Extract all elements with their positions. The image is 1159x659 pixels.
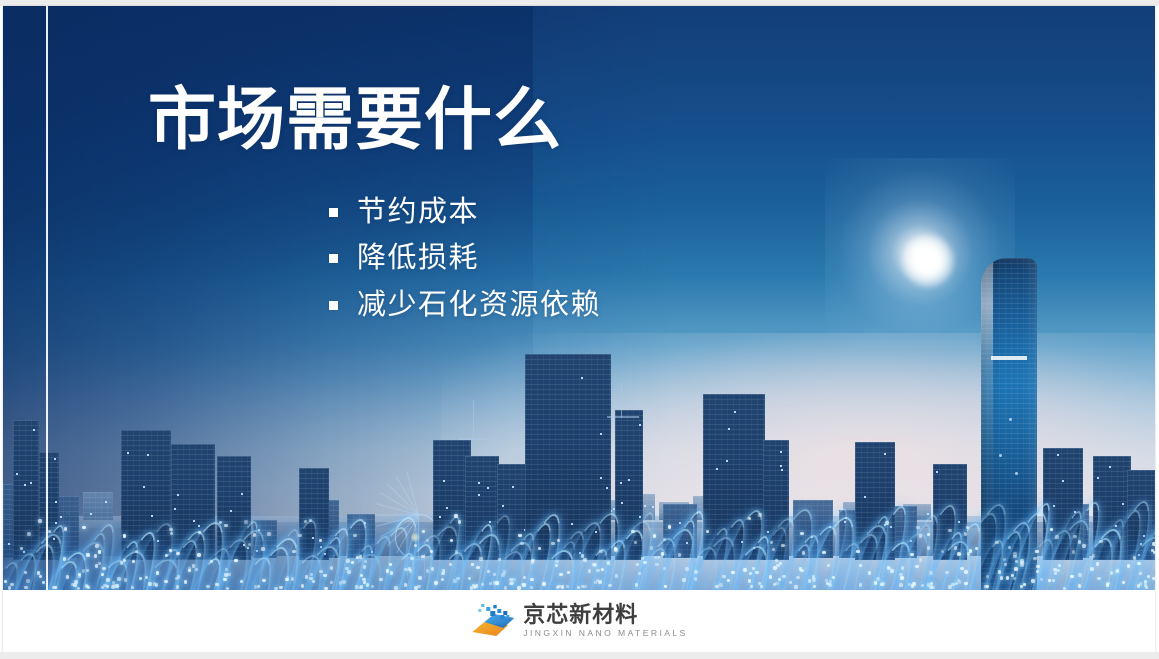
building	[253, 520, 277, 558]
page-bottom-margin	[0, 652, 1159, 659]
bullet-square-icon	[329, 301, 338, 310]
slide-page: 市场需要什么 节约成本降低损耗减少石化资源依赖	[0, 0, 1159, 659]
lit-window	[1115, 525, 1117, 527]
ferris-wheel-hub	[411, 533, 420, 542]
building	[1043, 448, 1083, 560]
slide-footer: 京芯新材料 JINGXIN NANO MATERIALS	[3, 590, 1155, 652]
lit-window	[324, 553, 326, 555]
lit-window	[320, 546, 322, 548]
bullet-item: 降低损耗	[329, 242, 601, 274]
building-windows	[525, 354, 611, 560]
lit-window	[716, 468, 718, 470]
lit-window	[16, 473, 18, 475]
ferris-wheel-support	[407, 554, 425, 578]
building-windows	[465, 456, 499, 560]
lit-window	[1053, 505, 1055, 507]
building-windows	[793, 500, 833, 558]
lit-window	[1074, 511, 1076, 513]
bullet-list: 节约成本降低损耗减少石化资源依赖	[329, 196, 601, 335]
construction-crane	[458, 438, 492, 440]
lit-window	[644, 505, 646, 507]
building	[13, 420, 39, 560]
lit-window	[8, 543, 10, 545]
lit-window	[33, 429, 35, 431]
ferris-wheel-spoke	[374, 515, 418, 516]
lit-window	[829, 526, 831, 528]
building-windows	[763, 440, 789, 560]
lit-window	[734, 411, 736, 413]
logo-mark-icon	[470, 602, 514, 640]
lit-window	[753, 547, 755, 549]
building-windows	[1127, 470, 1155, 560]
lit-window	[958, 521, 960, 523]
building	[171, 444, 215, 560]
lit-window	[679, 522, 681, 524]
lit-window	[845, 517, 847, 519]
building	[855, 442, 895, 560]
lit-window	[1062, 480, 1064, 482]
building	[465, 456, 499, 560]
bullet-square-icon	[329, 254, 338, 263]
building	[763, 440, 789, 560]
lit-window	[780, 465, 782, 467]
building	[121, 430, 171, 560]
bullet-label: 节约成本	[357, 196, 479, 228]
lit-window	[193, 520, 195, 522]
lit-window	[54, 458, 56, 460]
building	[347, 514, 375, 558]
building	[793, 500, 833, 558]
lit-window	[502, 505, 504, 507]
lit-window	[639, 424, 641, 426]
building	[83, 492, 113, 520]
lit-window	[1057, 454, 1059, 456]
lit-window	[60, 516, 62, 518]
lit-window	[241, 493, 243, 495]
lit-window	[198, 525, 200, 527]
tower-light-band	[991, 356, 1027, 360]
lit-window	[741, 541, 743, 543]
lit-window	[1097, 477, 1099, 479]
bullet-label: 降低损耗	[357, 242, 479, 274]
lit-window	[443, 480, 445, 482]
building	[933, 464, 967, 560]
logo-text: 京芯新材料 JINGXIN NANO MATERIALS	[523, 604, 687, 638]
lit-window	[55, 501, 57, 503]
building	[39, 452, 59, 560]
lit-window	[478, 494, 480, 496]
lit-window	[652, 506, 654, 508]
building	[299, 468, 329, 560]
lit-window	[600, 477, 602, 479]
lit-window	[30, 482, 32, 484]
lit-window	[512, 486, 514, 488]
construction-crane	[473, 400, 474, 440]
building-windows	[1043, 448, 1083, 560]
lit-window	[312, 537, 314, 539]
lit-window	[177, 494, 179, 496]
slide-background-photo: 市场需要什么 节约成本降低损耗减少石化资源依赖	[3, 6, 1155, 590]
lit-window	[606, 487, 608, 489]
lit-window	[151, 515, 153, 517]
lit-window	[884, 453, 886, 455]
lit-window	[1138, 554, 1140, 556]
building-windows	[121, 430, 171, 560]
building-windows	[39, 452, 59, 560]
lit-window	[364, 522, 366, 524]
lit-window	[767, 531, 769, 533]
lit-window	[487, 487, 489, 489]
building-windows	[497, 464, 527, 560]
tower-light-dot	[999, 454, 1002, 457]
building	[217, 456, 251, 560]
lit-window	[639, 516, 641, 518]
building-windows	[217, 456, 251, 560]
lit-window	[864, 496, 866, 498]
lit-window	[579, 552, 581, 554]
lit-window	[890, 526, 892, 528]
tower-light-dot	[1009, 418, 1012, 421]
lit-window	[844, 521, 846, 523]
page-title: 市场需要什么	[148, 86, 562, 154]
lit-window	[811, 536, 813, 538]
building-windows	[13, 420, 39, 560]
lit-window	[147, 454, 149, 456]
lit-window	[1122, 503, 1124, 505]
lit-window	[55, 522, 57, 524]
lit-window	[600, 433, 602, 435]
building	[615, 410, 643, 560]
lit-window	[780, 451, 782, 453]
bullet-square-icon	[329, 208, 338, 217]
building	[497, 464, 527, 560]
lit-window	[446, 507, 448, 509]
lit-window	[1109, 466, 1111, 468]
lit-window	[256, 550, 258, 552]
lit-window	[157, 540, 159, 542]
construction-crane	[621, 382, 622, 418]
lit-window	[884, 524, 886, 526]
lit-window	[910, 540, 912, 542]
lit-window	[489, 521, 491, 523]
lit-window	[90, 513, 92, 515]
lit-window	[24, 484, 26, 486]
lit-window	[571, 523, 573, 525]
building	[1127, 470, 1155, 560]
lit-window	[959, 553, 961, 555]
building-windows	[663, 504, 697, 558]
bullet-item: 减少石化资源依赖	[329, 289, 601, 321]
building-windows	[615, 410, 643, 560]
building-windows	[703, 394, 765, 560]
tower-light-dot	[1015, 472, 1018, 475]
lit-window	[247, 547, 249, 549]
building-windows	[933, 464, 967, 560]
lit-window	[105, 501, 107, 503]
logo-english-name: JINGXIN NANO MATERIALS	[523, 629, 687, 638]
lit-window	[243, 544, 245, 546]
lit-window	[728, 428, 730, 430]
lit-window	[781, 469, 783, 471]
lit-window	[621, 502, 623, 504]
lit-window	[143, 486, 145, 488]
building	[703, 394, 765, 560]
lit-window	[628, 479, 630, 481]
lit-window	[620, 482, 622, 484]
lit-window	[127, 452, 129, 454]
lit-window	[439, 516, 441, 518]
company-logo: 京芯新材料 JINGXIN NANO MATERIALS	[470, 602, 687, 640]
building-windows	[1093, 456, 1131, 560]
building	[663, 504, 697, 558]
lit-window	[174, 508, 176, 510]
bullet-label: 减少石化资源依赖	[357, 289, 601, 321]
lit-window	[927, 513, 929, 515]
lit-window	[478, 482, 480, 484]
lit-window	[53, 538, 55, 540]
building-windows	[855, 442, 895, 560]
lit-window	[1143, 535, 1145, 537]
building	[1093, 456, 1131, 560]
tower-window-texture	[981, 258, 1037, 590]
vertical-accent-line	[46, 6, 48, 590]
building-windows	[83, 492, 113, 520]
landmark-tower	[981, 258, 1037, 590]
lit-window	[230, 510, 232, 512]
lit-window	[936, 471, 938, 473]
bullet-item: 节约成本	[329, 196, 601, 228]
lit-window	[23, 551, 25, 553]
lit-window	[595, 531, 597, 533]
construction-crane	[607, 416, 639, 418]
building-windows	[171, 444, 215, 560]
building-windows	[253, 520, 277, 558]
lit-window	[258, 529, 260, 531]
lit-window	[371, 551, 373, 553]
lit-window	[726, 460, 728, 462]
lit-window	[1140, 543, 1142, 545]
lit-window	[686, 542, 688, 544]
slide-frame: 市场需要什么 节约成本降低损耗减少石化资源依赖	[3, 6, 1155, 652]
logo-chinese-name: 京芯新材料	[523, 604, 687, 626]
building-windows	[299, 468, 329, 560]
building	[525, 354, 611, 560]
lit-window	[581, 377, 583, 379]
